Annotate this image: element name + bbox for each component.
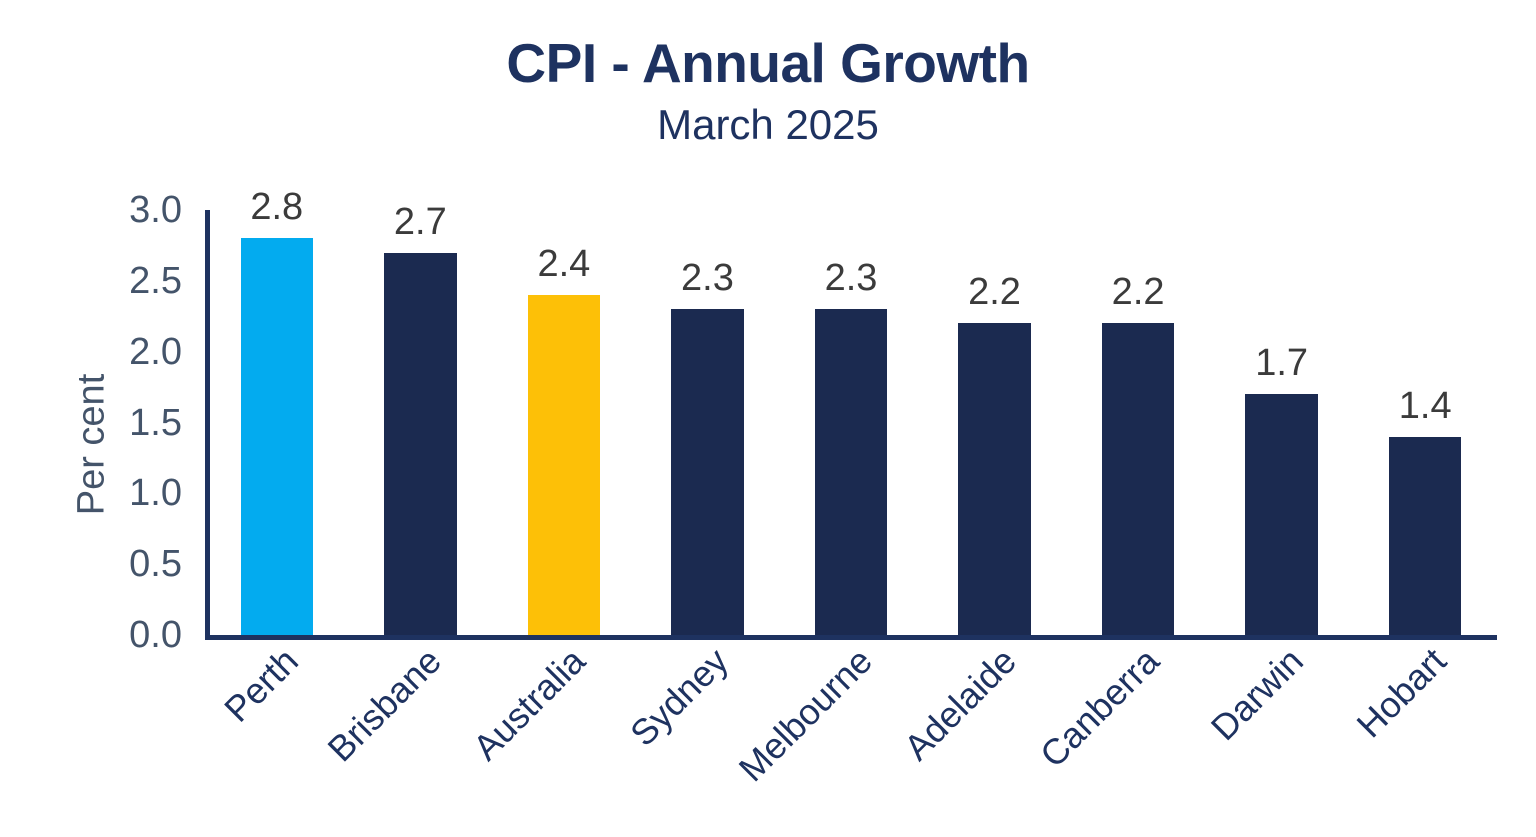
bar-group: 1.4 (1389, 210, 1461, 635)
bar-value-label: 2.4 (537, 245, 590, 283)
bar-group: 2.2 (1102, 210, 1174, 635)
y-axis-tick-label: 2.0 (62, 333, 182, 371)
bar[interactable] (528, 295, 600, 635)
bar-group: 2.3 (815, 210, 887, 635)
y-axis-tick-label: 2.5 (62, 262, 182, 300)
bar[interactable] (1245, 394, 1317, 635)
bar-value-label: 2.7 (394, 203, 447, 241)
bar[interactable] (1389, 437, 1461, 635)
bar-group: 2.7 (384, 210, 456, 635)
bar-value-label: 2.3 (825, 259, 878, 297)
chart-canvas: CPI - Annual Growth March 2025 Per cent … (0, 0, 1536, 837)
y-axis-tick-label: 1.5 (62, 404, 182, 442)
bar-value-label: 2.2 (968, 273, 1021, 311)
chart-subtitle: March 2025 (0, 99, 1536, 152)
y-axis-tick-label: 0.0 (62, 616, 182, 654)
bar-value-label: 1.7 (1255, 344, 1308, 382)
bar[interactable] (671, 309, 743, 635)
plot-area: 2.82.72.42.32.32.22.21.71.4 (205, 210, 1497, 635)
bar-value-label: 2.2 (1112, 273, 1165, 311)
bar-group: 2.4 (528, 210, 600, 635)
y-axis-tick-label: 0.5 (62, 545, 182, 583)
bar[interactable] (815, 309, 887, 635)
bar-value-label: 1.4 (1399, 387, 1452, 425)
chart-title: CPI - Annual Growth (0, 34, 1536, 93)
bar-group: 2.8 (241, 210, 313, 635)
y-axis-tick-label: 3.0 (62, 191, 182, 229)
bar-group: 1.7 (1245, 210, 1317, 635)
x-axis-labels: PerthBrisbaneAustraliaSydneyMelbourneAde… (205, 640, 1497, 830)
bar[interactable] (958, 323, 1030, 635)
bar[interactable] (241, 238, 313, 635)
bar-group: 2.3 (671, 210, 743, 635)
bar-group: 2.2 (958, 210, 1030, 635)
y-axis-tick-label: 1.0 (62, 474, 182, 512)
bar-value-label: 2.8 (250, 188, 303, 226)
bar-value-label: 2.3 (681, 259, 734, 297)
bar-series: 2.82.72.42.32.32.22.21.71.4 (205, 210, 1497, 635)
bar[interactable] (1102, 323, 1174, 635)
bar[interactable] (384, 253, 456, 636)
chart-header: CPI - Annual Growth March 2025 (0, 34, 1536, 152)
